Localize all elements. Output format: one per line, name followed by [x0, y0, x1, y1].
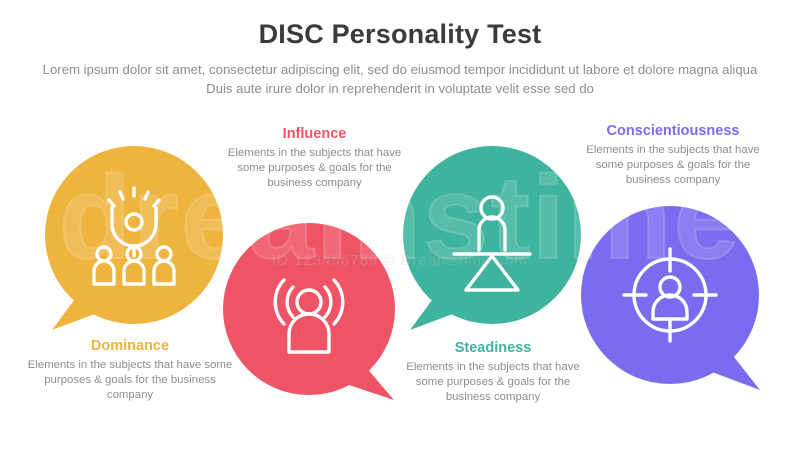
category-title-conscientiousness: Conscientiousness — [572, 122, 774, 141]
steadiness-circle — [403, 146, 581, 324]
label-block-influence: Influence Elements in the subjects that … — [222, 125, 407, 192]
page-subtitle: Lorem ipsum dolor sit amet, consectetur … — [38, 60, 762, 98]
dominance-circle — [45, 146, 223, 324]
influence-circle — [223, 223, 395, 395]
category-desc-steadiness: Elements in the subjects that have some … — [398, 360, 588, 406]
infographic-canvas: DISC Personality Test Lorem ipsum dolor … — [0, 0, 800, 450]
label-block-dominance: Dominance Elements in the subjects that … — [25, 337, 235, 404]
bubble-conscientiousness[interactable] — [578, 200, 774, 396]
label-block-conscientiousness: Conscientiousness Elements in the subjec… — [572, 122, 774, 189]
label-block-steadiness: Steadiness Elements in the subjects that… — [398, 339, 588, 406]
category-title-influence: Influence — [222, 125, 407, 144]
category-desc-dominance: Elements in the subjects that have some … — [25, 358, 235, 404]
bubble-dominance[interactable] — [38, 140, 234, 336]
bubble-influence[interactable] — [222, 222, 408, 408]
category-title-steadiness: Steadiness — [398, 339, 588, 358]
category-desc-conscientiousness: Elements in the subjects that have some … — [572, 143, 774, 189]
category-title-dominance: Dominance — [25, 337, 235, 356]
bubble-steadiness[interactable] — [396, 140, 592, 336]
page-title: DISC Personality Test — [0, 19, 800, 50]
category-desc-influence: Elements in the subjects that have some … — [222, 146, 407, 192]
